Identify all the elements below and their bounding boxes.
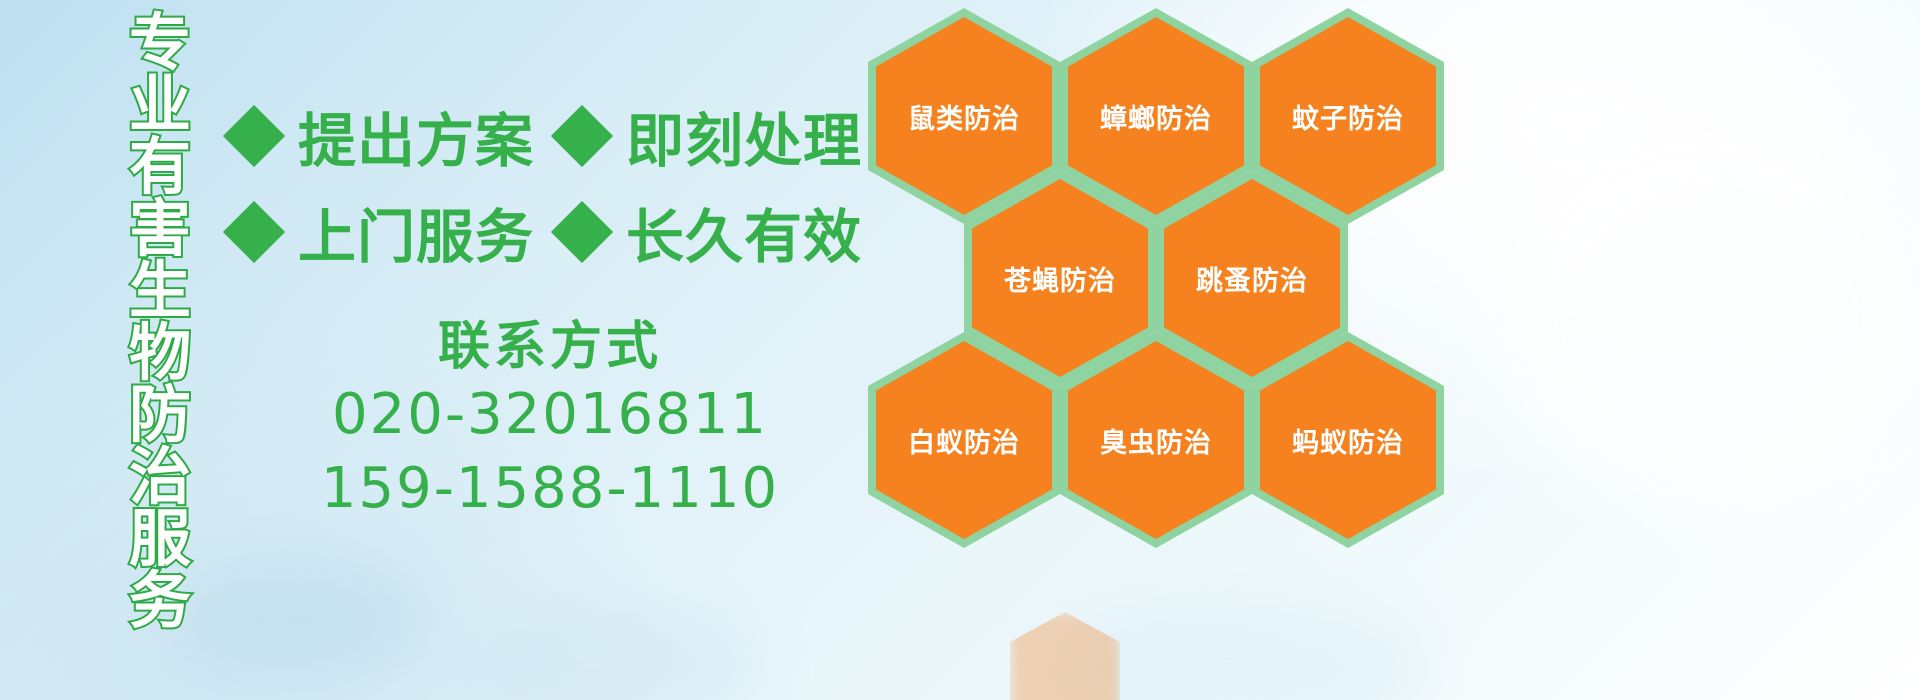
contact-block: 联系方式 020-32016811 159-1588-1110 xyxy=(300,318,800,526)
bullet-item-propose-plan: 提出方案 xyxy=(232,94,534,178)
hexagon-fill: 臭虫防治 xyxy=(1068,341,1244,539)
headline-char: 治 xyxy=(129,446,191,508)
headline-char: 专 xyxy=(129,12,191,74)
background-blob xyxy=(170,560,430,680)
service-label: 鼠类防治 xyxy=(908,97,1020,136)
pest-control-banner: 专 业 有 害 生 物 防 治 服 务 提出方案 即刻处理 上门服务 xyxy=(0,0,1920,700)
hexagon-fill: 蚂蚁防治 xyxy=(1260,341,1436,539)
hexagon-fill: 蟑螂防治 xyxy=(1068,17,1244,215)
service-label: 蚊子防治 xyxy=(1292,97,1404,136)
bullet-item-immediate-handling: 即刻处理 xyxy=(560,94,862,178)
bullet-row: 上门服务 长久有效 xyxy=(232,184,872,280)
bullet-label: 长久有效 xyxy=(626,190,862,274)
headline-char: 防 xyxy=(129,384,191,446)
headline-char: 服 xyxy=(129,508,191,570)
bullet-row: 提出方案 即刻处理 xyxy=(232,88,872,184)
diamond-bullet-icon xyxy=(551,105,613,167)
bullet-label: 即刻处理 xyxy=(626,94,862,178)
hexagon-fill: 鼠类防治 xyxy=(876,17,1052,215)
headline-char: 害 xyxy=(129,198,191,260)
hexagon-fill: 白蚁防治 xyxy=(876,341,1052,539)
hexagon-fill: 蚊子防治 xyxy=(1260,17,1436,215)
feature-bullet-list: 提出方案 即刻处理 上门服务 长久有效 xyxy=(232,88,872,280)
bullet-item-long-lasting: 长久有效 xyxy=(560,190,862,274)
service-label: 跳蚤防治 xyxy=(1196,259,1308,298)
headline-char: 有 xyxy=(129,136,191,198)
hexagon-fill: 跳蚤防治 xyxy=(1164,179,1340,377)
bullet-label: 提出方案 xyxy=(298,94,534,178)
headline-char: 生 xyxy=(129,260,191,322)
bullet-label: 上门服务 xyxy=(298,190,534,274)
background-blob xyxy=(460,600,760,700)
phone-number-landline[interactable]: 020-32016811 xyxy=(300,378,800,452)
phone-number-mobile[interactable]: 159-1588-1110 xyxy=(300,452,800,526)
contact-title: 联系方式 xyxy=(300,318,800,378)
hexagon-fill: 苍蝇防治 xyxy=(972,179,1148,377)
headline-char: 务 xyxy=(129,570,191,632)
diamond-bullet-icon xyxy=(551,201,613,263)
service-hexagon-grid: 鼠类防治 蟑螂防治 蚊子防治 苍蝇防治 跳蚤防治 白蚁防治 xyxy=(856,0,1456,560)
service-label: 蚂蚁防治 xyxy=(1292,421,1404,460)
bullet-item-onsite-service: 上门服务 xyxy=(232,190,534,274)
headline-char: 物 xyxy=(129,322,191,384)
service-label: 白蚁防治 xyxy=(908,421,1020,460)
headline-char: 业 xyxy=(129,74,191,136)
service-label: 臭虫防治 xyxy=(1100,421,1212,460)
background-glow xyxy=(1500,120,1920,520)
vertical-headline: 专 业 有 害 生 物 防 治 服 务 xyxy=(112,12,208,558)
service-label: 苍蝇防治 xyxy=(1004,259,1116,298)
service-label: 蟑螂防治 xyxy=(1100,97,1212,136)
diamond-bullet-icon xyxy=(223,201,285,263)
diamond-bullet-icon xyxy=(223,105,285,167)
